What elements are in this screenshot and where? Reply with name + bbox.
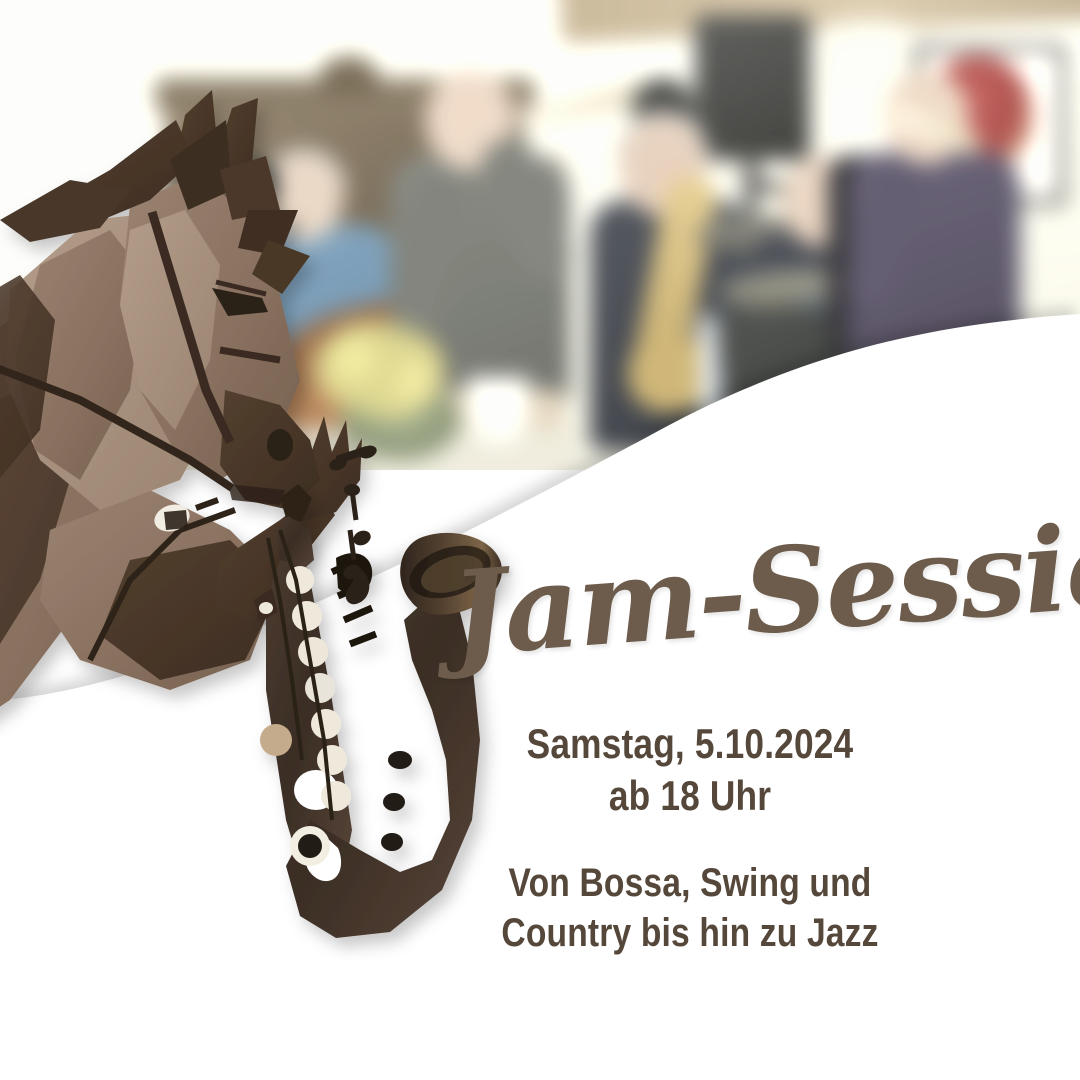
note-head-3 [344,484,360,496]
sax-key-7 [321,781,351,811]
sax-thumb-pearl [259,602,273,614]
event-details: Samstag, 5.10.2024 ab 18 Uhr Von Bossa, … [390,718,990,958]
sax-key-5 [311,709,341,739]
event-time: ab 18 Uhr [438,770,942,822]
event-description-line-1: Von Bossa, Swing und [438,858,942,908]
sax-key-4 [305,673,335,703]
mic-boom [196,500,218,508]
sax-key-1 [286,566,314,594]
mic-grille [164,510,188,530]
sax-key-3 [298,637,328,667]
sax-key-8-pad [298,834,322,858]
jam-session-poster: Jam-Session Samstag, 5.10.2024 ab 18 Uhr… [0,0,1080,1080]
sax-key-2 [292,601,322,631]
sax-side-key [260,724,292,756]
detail-spacer [390,822,990,858]
event-description-line-2: Country bis hin zu Jazz [438,908,942,958]
sax-key-6 [317,745,347,775]
horse-nostril [267,429,293,461]
event-date: Samstag, 5.10.2024 [438,718,942,770]
